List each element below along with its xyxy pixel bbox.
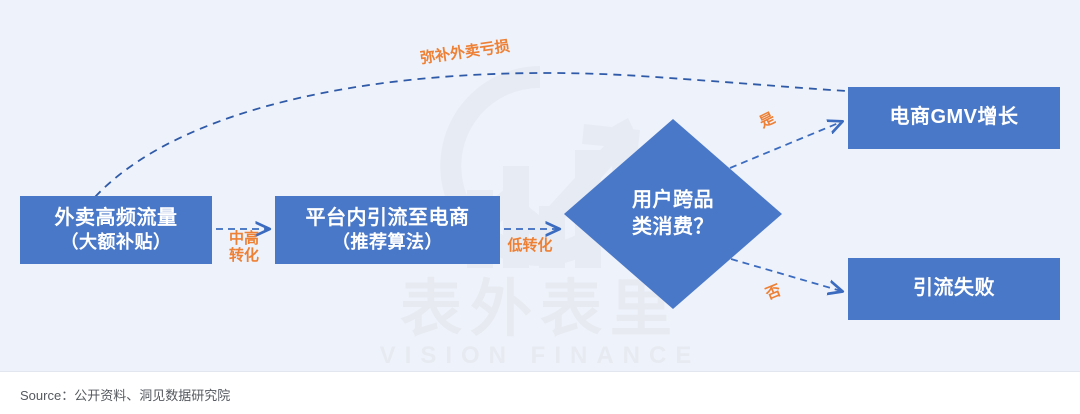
edge-label-mid-line1: 中高 bbox=[218, 230, 270, 247]
edge-label-mid-line2: 转化 bbox=[218, 247, 270, 264]
footer: Source：公开资料、洞见数据研究院 bbox=[0, 371, 1080, 414]
node-divert-failure[interactable]: 引流失败 bbox=[848, 258, 1060, 320]
screenshot-root: 表外表里 VISION FINANCE 外卖高频流量 bbox=[0, 0, 1080, 414]
node-decision-line2: 类消费？ bbox=[632, 214, 714, 241]
node-gmv-label: 电商GMV增长 bbox=[889, 105, 1018, 131]
edge-label-low-conversion: 低转化 bbox=[494, 237, 566, 254]
node-takeout-traffic[interactable]: 外卖高频流量 （大额补贴） bbox=[20, 196, 212, 264]
node-fail-label: 引流失败 bbox=[913, 276, 995, 302]
node-traffic-line1: 外卖高频流量 bbox=[55, 206, 178, 232]
edge-label-mid-conversion: 中高 转化 bbox=[218, 230, 270, 265]
node-decision-line1: 用户跨品 bbox=[632, 187, 714, 214]
edge-label-cover-loss: 弥补外卖亏损 bbox=[419, 38, 511, 68]
node-in-platform-divert[interactable]: 平台内引流至电商 （推荐算法） bbox=[275, 196, 500, 264]
source-note: Source：公开资料、洞见数据研究院 bbox=[20, 385, 230, 404]
node-traffic-line2: （大额补贴） bbox=[61, 231, 172, 254]
diagram-canvas: 表外表里 VISION FINANCE 外卖高频流量 bbox=[0, 0, 1080, 371]
node-gmv-growth[interactable]: 电商GMV增长 bbox=[848, 87, 1060, 149]
node-divert-line1: 平台内引流至电商 bbox=[306, 206, 470, 232]
decision-label: 用户跨品 类消费？ bbox=[564, 119, 782, 309]
node-decision-cross-category[interactable]: 用户跨品 类消费？ bbox=[564, 119, 782, 309]
node-divert-line2: （推荐算法） bbox=[332, 231, 443, 254]
watermark-en: VISION FINANCE bbox=[380, 342, 701, 369]
